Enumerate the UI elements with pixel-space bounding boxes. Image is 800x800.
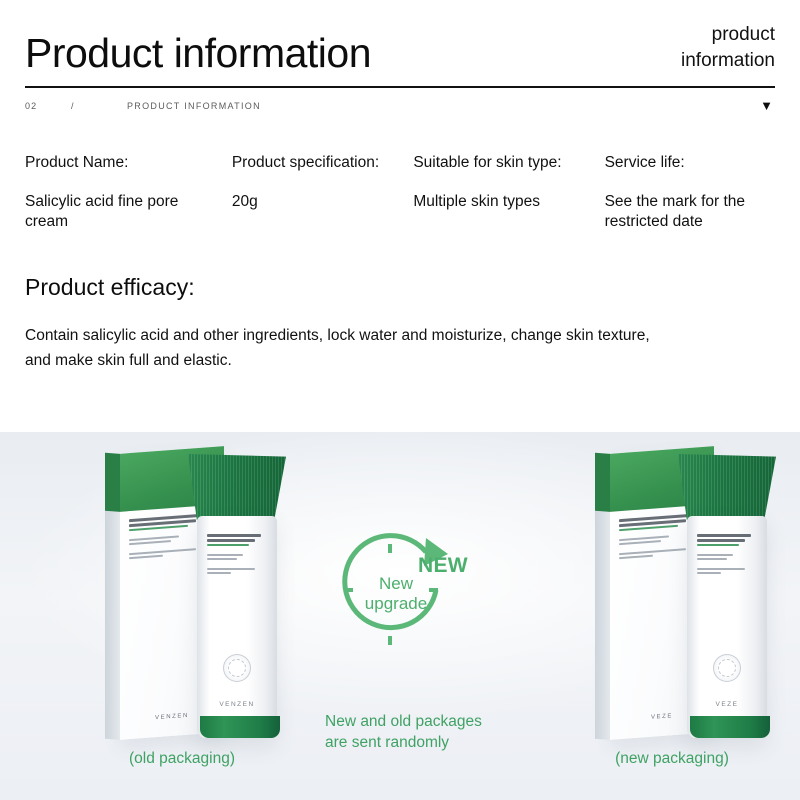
product-tube-new: VEZE xyxy=(684,454,770,744)
tube-cap xyxy=(678,454,776,520)
header-divider xyxy=(25,86,775,88)
carton-green-side xyxy=(105,453,120,512)
tube-brand: VEZE xyxy=(687,701,767,708)
spec-label: Product specification: xyxy=(232,154,400,172)
product-image-band: VENZEN VENZEN xyxy=(0,432,800,800)
tube-body: VEZE xyxy=(687,516,767,738)
random-note-line1: New and old packages xyxy=(325,712,555,733)
quality-seal-icon xyxy=(713,654,741,682)
tube-crimp xyxy=(690,716,770,738)
breadcrumb: 02 / PRODUCT INFORMATION ▼ xyxy=(25,99,775,112)
header-row: Product information product information xyxy=(25,22,775,77)
header-subtitle-line1: product xyxy=(681,22,775,48)
tube-brand: VENZEN xyxy=(197,701,277,708)
badge-new-label: NEW xyxy=(418,554,468,578)
breadcrumb-number: 02 xyxy=(25,101,71,111)
random-shipping-note: New and old packages are sent randomly xyxy=(325,712,555,753)
tube-cap-ridges xyxy=(188,454,286,520)
efficacy-title: Product efficacy: xyxy=(25,274,775,301)
spec-column-skin-type: Suitable for skin type: Multiple skin ty… xyxy=(413,154,604,233)
chevron-down-icon[interactable]: ▼ xyxy=(760,99,775,112)
tube-crimp xyxy=(200,716,280,738)
random-note-line2: are sent randomly xyxy=(325,733,555,754)
tube-label-text xyxy=(207,534,267,577)
header-subtitle-line2: information xyxy=(681,48,775,74)
quality-seal-icon xyxy=(223,654,251,682)
page-title: Product information xyxy=(25,32,371,77)
product-shot-new: VEZE VEZE xyxy=(562,432,800,762)
badge-inner-line2: upgrade xyxy=(344,594,448,614)
spec-column-service-life: Service life: See the mark for the restr… xyxy=(605,154,775,233)
header-subtitle: product information xyxy=(681,22,775,77)
tube-cap xyxy=(188,454,286,520)
spec-value: 20g xyxy=(232,192,400,212)
tube-label-text xyxy=(697,534,757,577)
spec-label: Service life: xyxy=(605,154,775,172)
caption-old-packaging: (old packaging) xyxy=(32,750,332,768)
spec-value: See the mark for the restricted date xyxy=(605,192,775,233)
page-header: Product information product information … xyxy=(0,0,800,140)
spec-label: Suitable for skin type: xyxy=(413,154,590,172)
efficacy-text: Contain salicylic acid and other ingredi… xyxy=(25,323,665,373)
tube-cap-ridges xyxy=(678,454,776,520)
breadcrumb-separator: / xyxy=(71,101,127,111)
product-tube-old: VENZEN xyxy=(194,454,280,744)
badge-inner-text: New upgrade xyxy=(344,574,448,614)
spec-value: Salicylic acid fine pore cream xyxy=(25,192,218,233)
new-upgrade-badge: New upgrade NEW xyxy=(326,528,476,658)
specification-table: Product Name: Salicylic acid fine pore c… xyxy=(0,140,800,233)
efficacy-section: Product efficacy: Contain salicylic acid… xyxy=(0,233,800,373)
spec-column-product-name: Product Name: Salicylic acid fine pore c… xyxy=(25,154,232,233)
spec-label: Product Name: xyxy=(25,154,218,172)
caption-new-packaging: (new packaging) xyxy=(522,750,800,768)
product-shot-old: VENZEN VENZEN xyxy=(72,432,362,762)
spec-column-specification: Product specification: 20g xyxy=(232,154,414,233)
breadcrumb-label: PRODUCT INFORMATION xyxy=(127,101,261,111)
spec-value: Multiple skin types xyxy=(413,192,590,212)
breadcrumb-items: 02 / PRODUCT INFORMATION xyxy=(25,101,261,111)
tube-body: VENZEN xyxy=(197,516,277,738)
carton-green-side xyxy=(595,453,610,512)
